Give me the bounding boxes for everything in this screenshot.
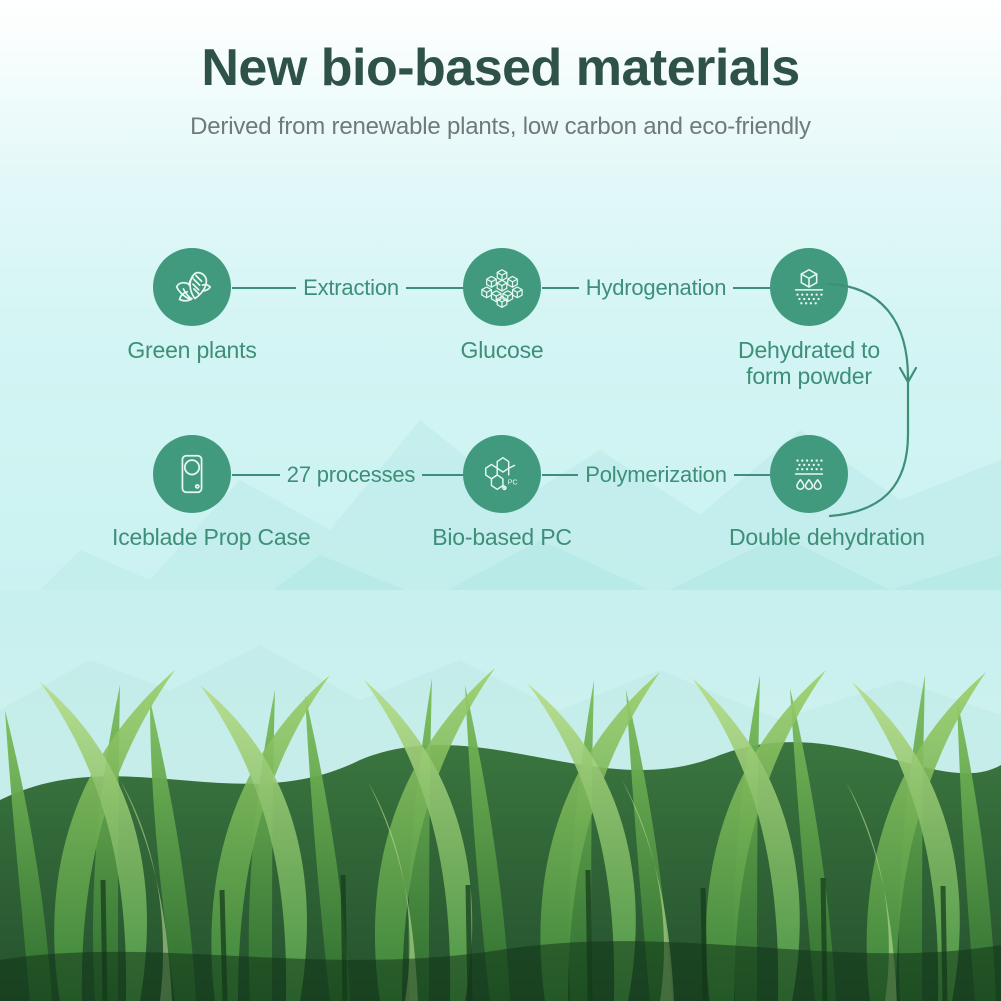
sugarcane-field-image [0, 590, 1001, 1001]
connector-label: Extraction [296, 275, 406, 301]
connector-line-left [542, 474, 578, 476]
flow-node-iceblade-prop-case[interactable]: Iceblade Prop Case [112, 435, 272, 551]
infographic-page: New bio-based materials Derived from ren… [0, 0, 1001, 1001]
flow-node-dehydrated-powder[interactable]: Dehydrated to form powder [729, 248, 889, 390]
flow-node-glucose[interactable]: Glucose [422, 248, 582, 364]
green-plants-bubble [153, 248, 231, 326]
flow-node-label: Glucose [422, 338, 582, 364]
double-dehydration-bubble [770, 435, 848, 513]
flow-node-label: Double dehydration [729, 525, 889, 551]
flow-node-bio-based-pc[interactable]: PC Bio-based PC [422, 435, 582, 551]
sugar-cubes-icon [479, 264, 525, 310]
powder-droplets-icon [786, 451, 832, 497]
bio-based-pc-bubble: PC [463, 435, 541, 513]
process-flow-diagram: Green plants Extraction [0, 0, 1001, 600]
flow-node-green-plants[interactable]: Green plants [112, 248, 272, 364]
corn-icon [169, 264, 215, 310]
connector-line-left [542, 287, 579, 289]
sugarcane-svg [0, 590, 1001, 1001]
connector-label: 27 processes [280, 462, 422, 488]
connector-line-left [232, 474, 280, 476]
phone-case-icon [169, 451, 215, 497]
connector-line-left [232, 287, 296, 289]
pc-molecule-icon: PC [479, 451, 525, 497]
flow-node-label: Bio-based PC [422, 525, 582, 551]
dehydrated-powder-bubble [770, 248, 848, 326]
glucose-bubble [463, 248, 541, 326]
flow-node-label: Iceblade Prop Case [112, 525, 272, 551]
connector-label: Hydrogenation [579, 275, 734, 301]
cube-powder-icon [786, 264, 832, 310]
flow-node-label: Dehydrated to form powder [729, 338, 889, 390]
connector-label: Polymerization [578, 462, 733, 488]
iceblade-prop-case-bubble [153, 435, 231, 513]
flow-node-double-dehydration[interactable]: Double dehydration [729, 435, 889, 551]
flow-node-label: Green plants [112, 338, 272, 364]
pc-molecule-text: PC [508, 479, 518, 487]
